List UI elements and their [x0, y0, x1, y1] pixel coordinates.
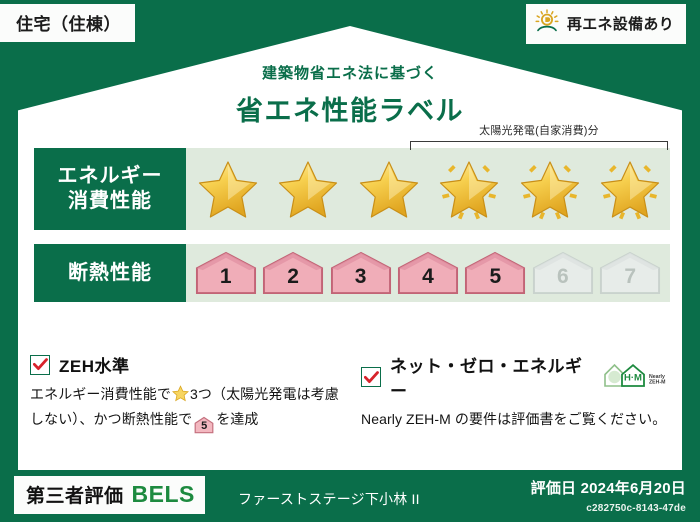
insulation-grade-5: 5 — [464, 251, 527, 295]
zeh-note-body: エネルギー消費性能で3つ（太陽光発電は考慮しない）、かつ断熱性能で5を達成 — [30, 384, 343, 434]
label-heading: 建築物省エネ法に基づく 省エネ性能ラベル — [0, 62, 700, 128]
note-net-zero-energy: ネット・ゼロ・エネルギー H·M Nearly ZEH-M Nearly ZEH… — [361, 352, 674, 434]
energy-label-root: 住宅（住棟） 再エネ設備あり 建築物省エネ法に基づく — [0, 0, 700, 522]
note-zeh-header: ZEH水準 — [30, 352, 343, 377]
criteria-notes: ZEH水準 エネルギー消費性能で3つ（太陽光発電は考慮しない）、かつ断熱性能で5… — [30, 352, 674, 434]
zehm-logo-main: H·M — [624, 372, 642, 383]
insulation-house-badge: 5 — [464, 251, 526, 295]
renewable-equipment-badge: 再エネ設備あり — [526, 4, 686, 44]
third-party-label: 第三者評価 — [26, 481, 124, 508]
evaluation-code: c282750c-8143-47de — [586, 503, 686, 514]
zeh-checkbox — [30, 355, 50, 375]
heading-subtitle: 建築物省エネ法に基づく — [0, 62, 700, 83]
insulation-grade-7: 7 — [599, 251, 662, 295]
label-footer: 第三者評価 BELS ファーストステージ下小林 II 評価日 2024年6月20… — [0, 472, 700, 522]
zehm-logo-sub2: ZEH-M — [649, 379, 665, 385]
insulation-grade-value: 1 — [220, 265, 232, 295]
inline-house-badge: 5 — [194, 416, 214, 434]
check-icon — [33, 358, 48, 371]
insulation-house-badge: 2 — [262, 251, 324, 295]
bels-label: BELS — [132, 481, 195, 508]
insulation-grade-scale: 1 2 3 4 — [186, 251, 670, 295]
insulation-grade-1: 1 — [194, 251, 257, 295]
energy-star-4 — [430, 148, 510, 230]
energy-star-3 — [349, 148, 429, 230]
insulation-grade-6: 6 — [531, 251, 594, 295]
insulation-grade-2: 2 — [261, 251, 324, 295]
dwelling-type-tag: 住宅（住棟） — [0, 4, 135, 42]
energy-performance-label: エネルギー 消費性能 — [34, 148, 186, 230]
insulation-house-badge: 1 — [195, 251, 257, 295]
insulation-grade-3: 3 — [329, 251, 392, 295]
note-zeh-standard: ZEH水準 エネルギー消費性能で3つ（太陽光発電は考慮しない）、かつ断熱性能で5… — [30, 352, 343, 434]
bels-plate: 第三者評価 BELS — [14, 476, 205, 514]
energy-label-line2: 消費性能 — [68, 189, 152, 214]
energy-star-2 — [269, 148, 349, 230]
energy-star-6 — [591, 148, 671, 230]
check-icon — [364, 371, 379, 384]
energy-star-rating — [186, 148, 670, 230]
zeh-note-title: ZEH水準 — [59, 352, 130, 377]
renewable-badge-label: 再エネ設備あり — [567, 13, 674, 34]
insulation-grade-value: 2 — [287, 265, 299, 295]
project-name: ファーストステージ下小林 II — [238, 489, 420, 509]
insulation-grade-value: 3 — [355, 265, 367, 295]
energy-star-5 — [510, 148, 590, 230]
energy-performance-row: エネルギー 消費性能 太陽光発電(自家消費)分 — [34, 148, 670, 230]
zeh-body-part1: エネルギー消費性能で — [30, 386, 171, 402]
insulation-grade-value: 7 — [624, 265, 636, 295]
solar-sun-icon — [534, 9, 560, 38]
insulation-grade-4: 4 — [396, 251, 459, 295]
insulation-house-badge: 6 — [532, 251, 594, 295]
insulation-grade-value: 4 — [422, 265, 434, 295]
energy-label-line1: エネルギー — [58, 164, 163, 189]
insulation-performance-label: 断熱性能 — [34, 244, 186, 302]
insulation-grade-value: 6 — [557, 265, 569, 295]
inline-house-value: 5 — [194, 416, 214, 436]
performance-rows: エネルギー 消費性能 太陽光発電(自家消費)分 — [34, 148, 670, 302]
evaluation-date: 評価日 2024年6月20日 — [531, 477, 686, 498]
insulation-house-badge: 3 — [330, 251, 392, 295]
energy-star-1 — [188, 148, 268, 230]
heading-title: 省エネ性能ラベル — [0, 89, 700, 128]
zeh-body-part3: を達成 — [216, 411, 258, 427]
insulation-grade-panel: 1 2 3 4 — [186, 244, 670, 302]
nze-note-body: Nearly ZEH-M の要件は評価書をご覧ください。 — [361, 409, 674, 431]
inline-star-icon — [172, 385, 189, 409]
nearly-zeh-m-logo: H·M Nearly ZEH-M — [602, 361, 674, 394]
insulation-grade-value: 5 — [490, 265, 502, 295]
insulation-label-line1: 断熱性能 — [68, 261, 152, 286]
note-nze-header: ネット・ゼロ・エネルギー H·M Nearly ZEH-M — [361, 352, 674, 402]
insulation-house-badge: 4 — [397, 251, 459, 295]
nze-note-title: ネット・ゼロ・エネルギー — [390, 352, 587, 402]
insulation-house-badge: 7 — [599, 251, 661, 295]
insulation-performance-row: 断熱性能 1 2 — [34, 244, 670, 302]
energy-star-panel: 太陽光発電(自家消費)分 — [186, 148, 670, 230]
nze-checkbox — [361, 367, 381, 387]
